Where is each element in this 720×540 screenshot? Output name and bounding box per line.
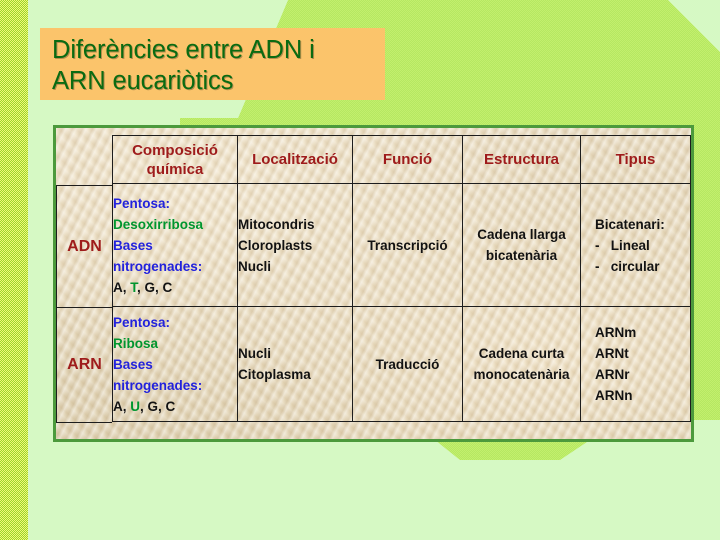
arn-pentosa-label: Pentosa: [113, 312, 237, 333]
column-header-tipus: Tipus [581, 136, 691, 184]
arn-bases-rest: , G, C [140, 399, 175, 414]
row-label-adn-text: ADN [67, 238, 102, 256]
cell-arn-composicio: Pentosa: Ribosa Bases nitrogenades: A, U… [113, 307, 238, 422]
adn-bases-rest: , G, C [137, 280, 172, 295]
adn-pentosa-value: Desoxirribosa [113, 214, 237, 235]
column-header-funcio: Funció [353, 136, 463, 184]
row-label-adn: ADN [56, 185, 112, 308]
adn-base-variable: T [130, 280, 137, 295]
column-header-composicio-quimica: Composició química [113, 136, 238, 184]
adn-tipus-line1: Bicatenari: [595, 214, 690, 235]
title-box: Diferències entre ADN i ARN eucariòtics [40, 28, 385, 100]
adn-pentosa-label: Pentosa: [113, 193, 237, 214]
adn-estructura-text: Cadena llarga bicatenària [463, 224, 580, 266]
arn-bases-label-1: Bases [113, 354, 237, 375]
adn-tipus-line2: - Lineal [595, 235, 690, 256]
arn-base-a: A, [113, 399, 130, 414]
cell-adn-tipus: Bicatenari: - Lineal - circular [581, 184, 691, 307]
cell-arn-funcio: Traducció [353, 307, 463, 422]
comparison-table: Composició química Localització Funció E… [112, 135, 691, 422]
table-row: Pentosa: Ribosa Bases nitrogenades: A, U… [113, 307, 691, 422]
table-row: Pentosa: Desoxirribosa Bases nitrogenade… [113, 184, 691, 307]
adn-tipus-line3: - circular [595, 256, 690, 277]
background-left-dither-strip [0, 0, 28, 540]
adn-bases-label-1: Bases [113, 235, 237, 256]
cell-adn-estructura: Cadena llarga bicatenària [463, 184, 581, 307]
cell-adn-localitzacio: Mitocondris Cloroplasts Nucli [238, 184, 353, 307]
column-header-estructura: Estructura [463, 136, 581, 184]
adn-bases-values: A, T, G, C [113, 277, 237, 298]
arn-localitzacio-text: Nucli Citoplasma [238, 343, 352, 385]
table-body: Pentosa: Desoxirribosa Bases nitrogenade… [113, 184, 691, 422]
table-header-row: Composició química Localització Funció E… [113, 136, 691, 184]
row-label-arn: ARN [56, 308, 112, 423]
row-label-arn-text: ARN [67, 356, 102, 374]
comparison-table-panel: Composició química Localització Funció E… [53, 125, 694, 442]
adn-base-a: A, [113, 280, 130, 295]
slide-canvas: Diferències entre ADN i ARN eucariòtics … [0, 0, 720, 540]
cell-arn-estructura: Cadena curta monocatenària [463, 307, 581, 422]
arn-base-variable: U [130, 399, 140, 414]
adn-localitzacio-text: Mitocondris Cloroplasts Nucli [238, 214, 352, 277]
adn-bases-label-2: nitrogenades: [113, 256, 237, 277]
table-header: Composició química Localització Funció E… [113, 136, 691, 184]
arn-bases-values: A, U, G, C [113, 396, 237, 417]
arn-pentosa-value: Ribosa [113, 333, 237, 354]
arn-tipus-line2: ARNt [595, 343, 690, 364]
adn-funcio-text: Transcripció [353, 235, 462, 256]
arn-estructura-text: Cadena curta monocatenària [463, 343, 580, 385]
cell-arn-localitzacio: Nucli Citoplasma [238, 307, 353, 422]
column-header-localitzacio: Localització [238, 136, 353, 184]
arn-tipus-line1: ARNm [595, 322, 690, 343]
arn-tipus-line4: ARNn [595, 385, 690, 406]
cell-adn-funcio: Transcripció [353, 184, 463, 307]
arn-tipus-line3: ARNr [595, 364, 690, 385]
cell-adn-composicio: Pentosa: Desoxirribosa Bases nitrogenade… [113, 184, 238, 307]
page-title: Diferències entre ADN i ARN eucariòtics [52, 35, 385, 97]
arn-funcio-text: Traducció [353, 354, 462, 375]
arn-bases-label-2: nitrogenades: [113, 375, 237, 396]
cell-arn-tipus: ARNm ARNt ARNr ARNn [581, 307, 691, 422]
